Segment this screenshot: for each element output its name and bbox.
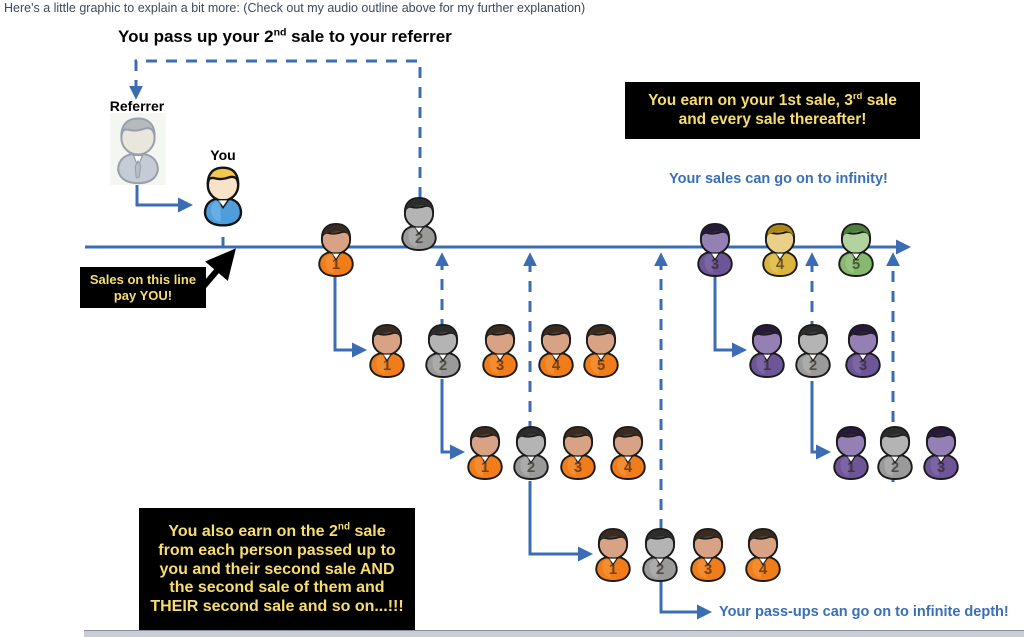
referrer-label: Referrer [100,98,174,114]
second-sale-line1b: sale [350,523,386,540]
right-row1-person-2: 2 [790,322,836,380]
second-sale-line1a: You also earn on the 2 [168,523,338,540]
right-row2-person-1: 1 [828,424,874,482]
referrer-avatar [110,113,166,185]
mainline-person-4: 4 [757,221,803,279]
bottom-scrollbar[interactable] [84,630,1024,637]
earn-callout-sup: rd [853,91,863,102]
passup-depth-note: Your pass-ups can go on to infinite dept… [719,604,1009,620]
row2-person-3: 3 [555,424,601,482]
row3-person-1: 1 [590,526,636,584]
row1-person-2: 2 [420,322,466,380]
row1-person-3: 3 [477,322,523,380]
right-row1-person-3: 3 [840,322,886,380]
branch-row1p2-to-row2 [442,382,462,452]
row2-person-2: 2 [508,424,554,482]
earn-callout-box: You earn on your 1st sale, 3rd sale and … [625,82,920,139]
branch-row3p2-to-passup-note [661,586,709,612]
row1-person-5: 5 [578,322,624,380]
second-sale-line2: from each person passed up to [158,542,395,559]
sales-line-callout-line2: pay YOU! [114,288,172,303]
second-sale-line5: THEIR second sale and so on...!!! [150,598,403,615]
second-sale-line4: the second sale of them and [169,579,384,596]
you-label: You [196,147,250,163]
passup-dashed-route [136,61,420,218]
you-avatar [199,165,247,228]
row3-person-2: 2 [637,526,683,584]
right-row2-person-2: 2 [872,424,918,482]
branch-row2p2-to-row3 [530,484,590,554]
mainline-person-3: 3 [692,221,738,279]
row2-person-4: 4 [605,424,651,482]
right-row2-person-3: 3 [918,424,964,482]
infinity-note: Your sales can go on to infinity! [669,171,888,187]
earn-callout-line1a: You earn on your 1st sale, 3 [648,92,853,109]
referrer-to-you-arrow [137,185,190,205]
branch-rightrow1p2-to-rightrow2 [812,382,828,452]
second-sale-sup: nd [338,522,350,533]
row3-person-3: 3 [685,526,731,584]
mainline-person-2: 2 [396,195,442,253]
row3-person-4: 4 [740,526,786,584]
diagram-canvas: Here's a little graphic to explain a bit… [0,0,1024,637]
row1-person-4: 4 [533,322,579,380]
sales-line-callout-line1: Sales on this line [90,272,196,287]
sales-line-callout-box: Sales on this line pay YOU! [80,267,206,308]
earn-callout-line2: and every sale thereafter! [679,111,867,128]
right-row1-person-1: 1 [744,322,790,380]
mainline-person-1: 1 [313,221,359,279]
row1-person-1: 1 [364,322,410,380]
row2-person-1: 1 [462,424,508,482]
mainline-person-5: 5 [833,221,879,279]
earn-callout-line1b: sale [862,92,896,109]
second-sale-callout-box: You also earn on the 2nd sale from each … [139,508,415,632]
second-sale-line3: you and their second sale AND [159,561,394,578]
